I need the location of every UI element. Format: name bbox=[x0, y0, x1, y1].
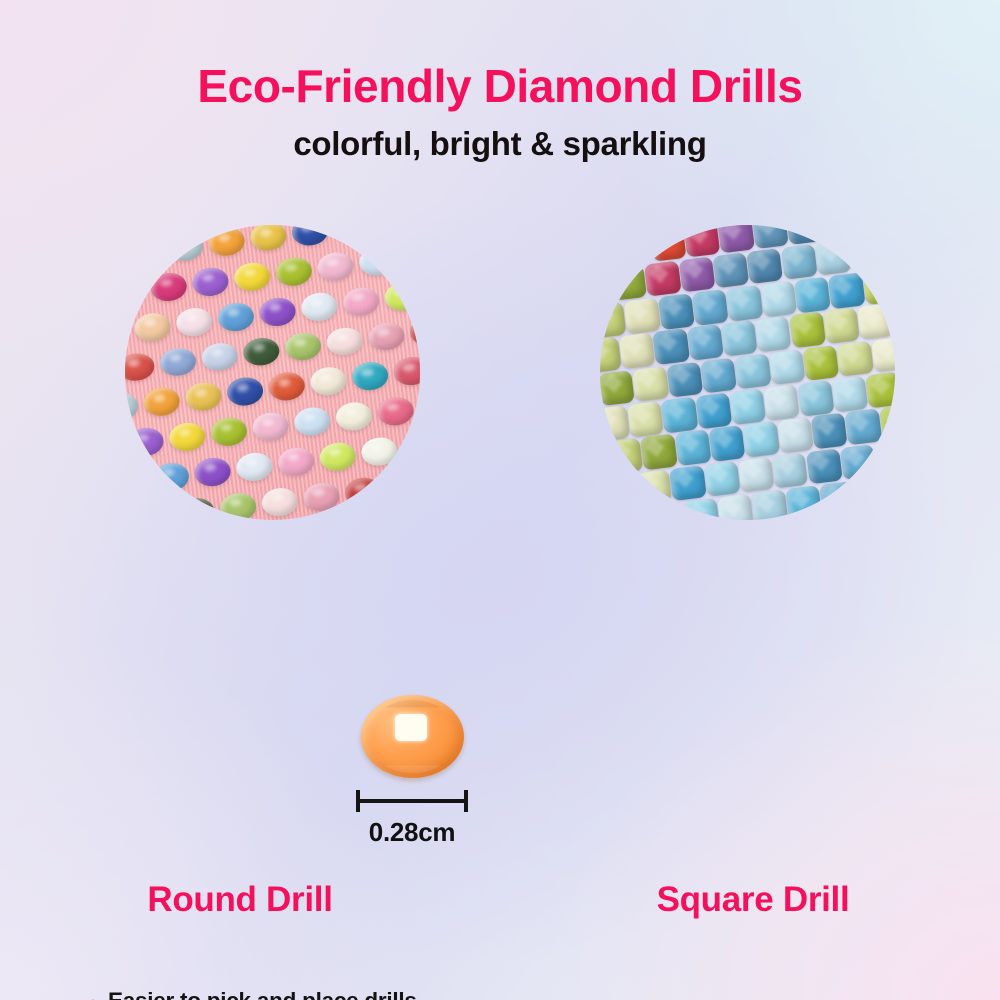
ruler-icon bbox=[352, 790, 472, 810]
drill-bead bbox=[797, 380, 834, 416]
drill-bead bbox=[805, 448, 842, 484]
drill-bead bbox=[674, 429, 711, 465]
drill-bead bbox=[848, 512, 885, 520]
drill-bead bbox=[870, 336, 895, 372]
drill-bead bbox=[729, 388, 766, 424]
drill-bead bbox=[746, 248, 783, 284]
drill-bead bbox=[610, 264, 647, 300]
drill-bead bbox=[703, 460, 740, 496]
drill-bead bbox=[652, 328, 689, 364]
drill-bead bbox=[811, 413, 848, 449]
page-title: Eco-Friendly Diamond Drills bbox=[0, 62, 1000, 110]
list-item: Easier to pick and place drills, complet… bbox=[52, 987, 522, 1000]
drill-bead bbox=[854, 225, 891, 236]
round-drill-mosaic bbox=[125, 225, 420, 520]
drill-bead bbox=[768, 349, 805, 385]
drill-bead bbox=[848, 235, 885, 271]
round-drill-measurement: 0.28cm bbox=[352, 790, 472, 846]
drill-bead bbox=[823, 307, 860, 343]
drill-bead bbox=[649, 502, 686, 520]
drill-bead bbox=[853, 477, 890, 513]
drill-bead bbox=[644, 260, 681, 296]
drill-bead bbox=[734, 353, 771, 389]
drill-bead bbox=[717, 225, 754, 253]
drill-bead bbox=[862, 268, 895, 304]
list-item-label: Easier to pick and place drills, complet… bbox=[108, 987, 522, 1000]
drill-bead bbox=[632, 365, 669, 401]
drill-bead bbox=[720, 320, 757, 356]
round-drill-sample bbox=[361, 695, 464, 778]
drill-bead bbox=[760, 280, 797, 316]
drill-bead bbox=[700, 357, 737, 393]
drill-bead bbox=[600, 405, 630, 441]
check-icon bbox=[52, 993, 100, 1000]
drill-bead bbox=[802, 344, 839, 380]
drill-bead bbox=[615, 506, 652, 520]
drill-bead bbox=[828, 272, 865, 308]
drill-bead bbox=[751, 225, 788, 249]
drill-bead bbox=[635, 469, 672, 505]
drill-bead bbox=[678, 256, 715, 292]
drill-bead bbox=[820, 225, 857, 240]
drill-bead bbox=[763, 384, 800, 420]
round-drill-size-label: 0.28cm bbox=[352, 817, 472, 848]
drill-bead bbox=[737, 456, 774, 492]
drill-bead bbox=[640, 433, 677, 469]
drill-bead bbox=[624, 297, 661, 333]
drill-bead bbox=[686, 324, 723, 360]
drill-bead bbox=[780, 243, 817, 279]
drill-bead bbox=[814, 239, 851, 275]
drill-bead bbox=[819, 481, 856, 517]
square-drill-column: 0.25cm Square Drill Easier to line up di… bbox=[500, 225, 1000, 725]
round-drill-photo bbox=[125, 225, 420, 520]
drill-bead bbox=[615, 229, 652, 265]
ruler-cap-right bbox=[464, 790, 468, 812]
drill-bead bbox=[873, 439, 895, 475]
drill-bead bbox=[794, 276, 831, 312]
drill-bead bbox=[627, 401, 664, 437]
drill-bead bbox=[789, 312, 826, 348]
drill-bead bbox=[618, 332, 655, 368]
drill-bead bbox=[754, 316, 791, 352]
drill-bead bbox=[857, 303, 894, 339]
drill-bead bbox=[661, 396, 698, 432]
drill-bead bbox=[669, 465, 706, 501]
page-subtitle: colorful, bright & sparkling bbox=[0, 127, 1000, 162]
drill-bead bbox=[785, 485, 822, 520]
ruler-bar bbox=[356, 799, 468, 803]
drill-bead bbox=[683, 225, 720, 257]
round-drill-column: 0.28cm Round Drill Easier to pick and pl… bbox=[0, 225, 500, 725]
drill-bead bbox=[712, 252, 749, 288]
drill-bead bbox=[600, 337, 621, 373]
square-drill-photo bbox=[600, 225, 895, 520]
header: Eco-Friendly Diamond Drills colorful, br… bbox=[0, 0, 1000, 162]
drill-bead bbox=[771, 452, 808, 488]
drill-bead bbox=[600, 370, 635, 406]
square-drill-mosaic bbox=[600, 225, 895, 520]
drill-bead bbox=[600, 301, 627, 337]
drill-bead bbox=[786, 225, 823, 245]
drill-bead bbox=[658, 293, 695, 329]
drill-bead bbox=[865, 371, 895, 407]
drill-bead bbox=[649, 225, 686, 261]
drill-bead bbox=[839, 444, 876, 480]
drill-bead bbox=[831, 375, 868, 411]
drill-bead bbox=[666, 361, 703, 397]
drill-bead bbox=[845, 408, 882, 444]
round-drill-heading: Round Drill bbox=[0, 880, 490, 920]
drill-bead bbox=[601, 473, 638, 509]
drill-bead bbox=[683, 497, 720, 520]
drill-bead bbox=[708, 425, 745, 461]
drill-bead bbox=[717, 493, 754, 520]
drill-bead bbox=[606, 438, 643, 474]
drill-bead bbox=[692, 289, 729, 325]
drill-bead bbox=[777, 417, 814, 453]
drill-bead bbox=[836, 340, 873, 376]
drill-bead bbox=[751, 489, 788, 520]
square-drill-heading: Square Drill bbox=[503, 880, 1000, 920]
highlight-glint bbox=[395, 714, 427, 741]
round-drill-bullets: Easier to pick and place drills, complet… bbox=[52, 987, 522, 1000]
drill-bead bbox=[695, 392, 732, 428]
drill-bead bbox=[743, 421, 780, 457]
infographic-root: Eco-Friendly Diamond Drills colorful, br… bbox=[0, 0, 1000, 1000]
drill-bead bbox=[726, 285, 763, 321]
